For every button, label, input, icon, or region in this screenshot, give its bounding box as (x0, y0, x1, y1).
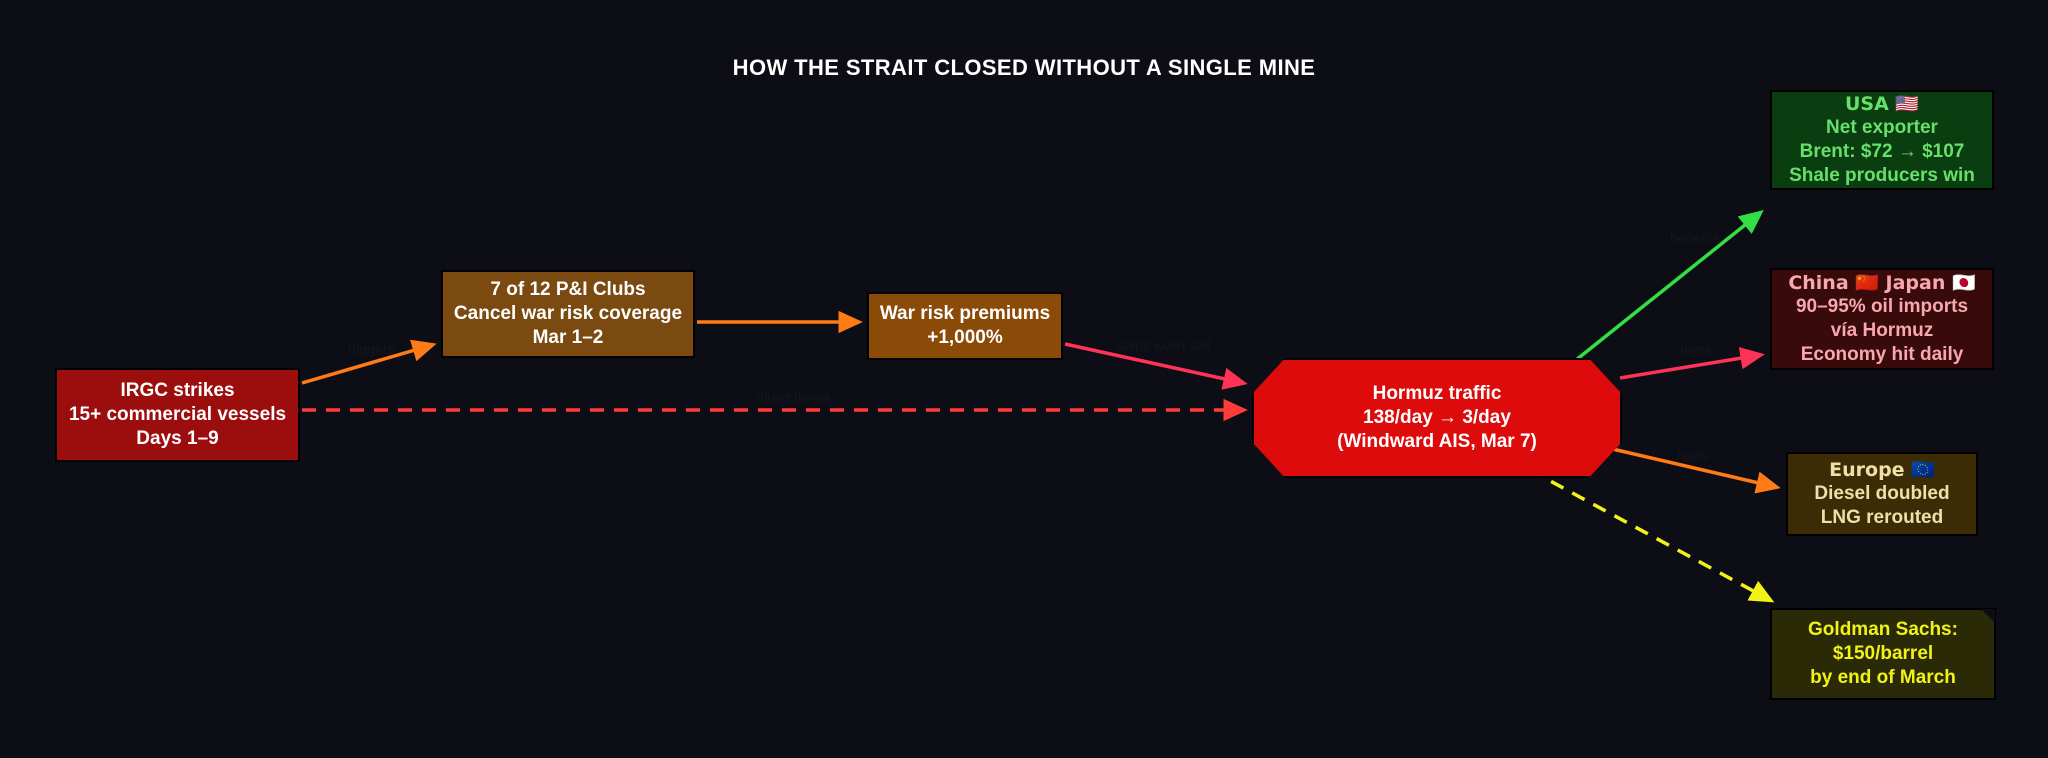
diagram-canvas: HOW THE STRAIT CLOSED WITHOUT A SINGLE M… (0, 0, 2048, 758)
node-goldman-forecast[interactable]: Goldman Sachs: $150/barrel by end of Mar… (1770, 608, 1996, 700)
node-asia-line-2: 90–95% oil imports (1796, 295, 1968, 319)
edge-label-irgc-to-pi: triggers (348, 341, 395, 357)
node-pi-clubs[interactable]: 7 of 12 P&I Clubs Cancel war risk covera… (441, 270, 695, 358)
node-usa-line-1: USA 🇺🇸 (1845, 92, 1919, 116)
node-irgc-line-2: 15+ commercial vessels (69, 403, 286, 427)
node-irgc-line-3: Days 1–9 (136, 427, 218, 451)
node-gs-line-3: by end of March (1810, 666, 1956, 690)
node-irgc-strikes[interactable]: IRGC strikes 15+ commercial vessels Days… (55, 368, 300, 462)
node-usa-outcome[interactable]: USA 🇺🇸 Net exporter Brent: $72 → $107 Sh… (1770, 90, 1994, 190)
node-europe-outcome[interactable]: Europe 🇪🇺 Diesel doubled LNG rerouted (1786, 452, 1978, 536)
node-europe-line-2: Diesel doubled (1814, 482, 1949, 506)
node-asia-line-4: Economy hit daily (1801, 343, 1964, 367)
node-premium-line-2: +1,000% (927, 326, 1003, 350)
node-hormuz-traffic[interactable]: Hormuz traffic 138/day → 3/day (Windward… (1252, 358, 1622, 478)
note-fold-corner-icon (1981, 609, 1995, 623)
node-usa-line-4: Shale producers win (1789, 164, 1975, 188)
node-premium-line-1: War risk premiums (880, 302, 1050, 326)
edge-label-hormuz-to-europe: hurts (1677, 447, 1708, 463)
node-hormuz-line-3: (Windward AIS, Mar 7) (1337, 430, 1537, 454)
node-usa-line-2: Net exporter (1826, 116, 1938, 140)
node-pi-line-3: Mar 1–2 (533, 326, 604, 350)
node-gs-line-1: Goldman Sachs: (1808, 618, 1958, 642)
node-europe-line-1: Europe 🇪🇺 (1829, 458, 1935, 482)
edge-hormuz-to-goldman (1530, 470, 1770, 600)
node-usa-line-3: Brent: $72 → $107 (1800, 140, 1965, 164)
edge-label-premiums-to-hormuz: ships won't sail (1117, 337, 1211, 353)
node-war-risk-premiums[interactable]: War risk premiums +1,000% (867, 292, 1063, 360)
edge-label-hormuz-to-asia: hurts (1680, 342, 1711, 358)
edge-label-irgc-to-hormuz: direct threat (756, 390, 830, 406)
node-irgc-line-1: IRGC strikes (120, 379, 234, 403)
node-gs-line-2: $150/barrel (1833, 642, 1933, 666)
node-europe-line-3: LNG rerouted (1821, 506, 1943, 530)
node-pi-line-1: 7 of 12 P&I Clubs (490, 278, 645, 302)
node-china-japan-outcome[interactable]: China 🇨🇳 Japan 🇯🇵 90–95% oil imports vía… (1770, 268, 1994, 370)
node-hormuz-line-2: 138/day → 3/day (1337, 406, 1537, 430)
node-hormuz-text: Hormuz traffic 138/day → 3/day (Windward… (1337, 382, 1537, 454)
node-asia-line-1: China 🇨🇳 Japan 🇯🇵 (1788, 271, 1975, 295)
node-asia-line-3: vía Hormuz (1831, 319, 1933, 343)
edge-label-hormuz-to-usa: benefits (1670, 230, 1719, 246)
edge-hormuz-to-asia (1620, 355, 1760, 378)
edge-layer: triggers direct threat ships won't sail … (0, 0, 2048, 758)
node-pi-line-2: Cancel war risk coverage (454, 302, 682, 326)
node-hormuz-line-1: Hormuz traffic (1337, 382, 1537, 406)
